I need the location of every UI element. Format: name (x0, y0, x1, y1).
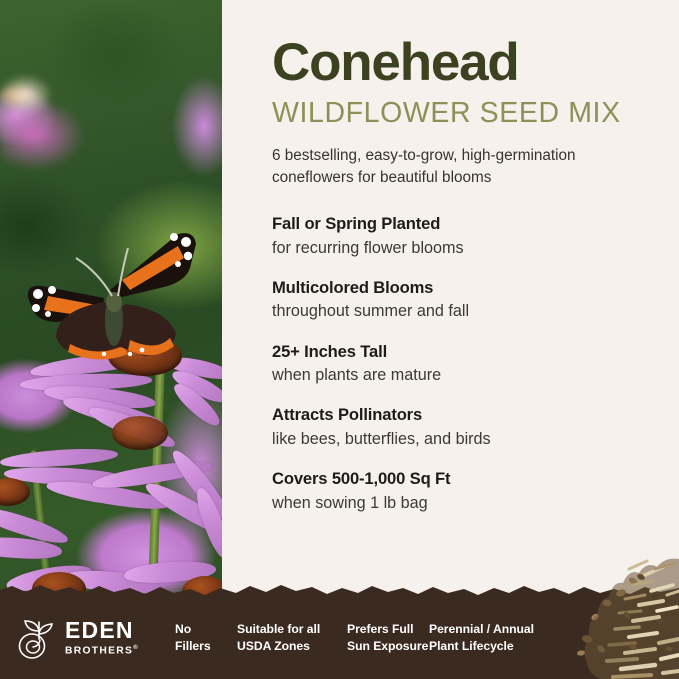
feature-list: Fall or Spring Planted for recurring flo… (272, 214, 659, 514)
feature-subtext: for recurring flower blooms (272, 238, 659, 259)
sprout-seed-icon (15, 616, 59, 660)
feature-subtext: when sowing 1 lb bag (272, 493, 659, 514)
footer-badge-usda-zones: Suitable for all USDA Zones (237, 621, 347, 655)
feature-subtext: when plants are mature (272, 365, 659, 386)
badge-line-2: Plant Lifecycle (429, 638, 549, 655)
feature-heading: Covers 500-1,000 Sq Ft (272, 469, 659, 490)
badge-line-1: Suitable for all (237, 621, 347, 638)
feature-heading: Attracts Pollinators (272, 405, 659, 426)
registered-trademark-icon: ® (133, 645, 139, 651)
brand-wordmark: EDEN BROTHERS® (65, 619, 139, 657)
feature-item: 25+ Inches Tall when plants are mature (272, 342, 659, 387)
badge-line-2: USDA Zones (237, 638, 347, 655)
feature-subtext: throughout summer and fall (272, 301, 659, 322)
badge-line-2: Sun Exposure (347, 638, 429, 655)
brand-name: EDEN (65, 619, 139, 642)
flower-cone-center (112, 416, 168, 450)
badge-line-1: No (175, 621, 237, 638)
feature-subtext: like bees, butterflies, and birds (272, 429, 659, 450)
flower-petal (0, 446, 118, 470)
flower-cone-center (0, 478, 30, 506)
feature-item: Covers 500-1,000 Sq Ft when sowing 1 lb … (272, 469, 659, 514)
feature-heading: Multicolored Blooms (272, 278, 659, 299)
feature-heading: 25+ Inches Tall (272, 342, 659, 363)
product-photo (0, 0, 222, 620)
feature-item: Multicolored Blooms throughout summer an… (272, 278, 659, 323)
badge-line-1: Prefers Full (347, 621, 429, 638)
brand-logo[interactable]: EDEN BROTHERS® (15, 616, 143, 660)
feature-item: Attracts Pollinators like bees, butterfl… (272, 405, 659, 450)
footer-content: EDEN BROTHERS® No Fillers Suitable for a… (0, 597, 679, 679)
content-panel: Conehead WILDFLOWER SEED MIX 6 bestselli… (222, 0, 679, 679)
footer-badge-sun-exposure: Prefers Full Sun Exposure (347, 621, 429, 655)
footer-badge-lifecycle: Perennial / Annual Plant Lifecycle (429, 621, 549, 655)
badge-line-1: Perennial / Annual (429, 621, 549, 638)
product-feature-card: Conehead WILDFLOWER SEED MIX 6 bestselli… (0, 0, 679, 679)
page-title: Conehead (272, 36, 659, 90)
brand-subname: BROTHERS® (65, 645, 139, 657)
badge-line-2: Fillers (175, 638, 237, 655)
footer-badge-fillers: No Fillers (175, 621, 237, 655)
feature-heading: Fall or Spring Planted (272, 214, 659, 235)
feature-item: Fall or Spring Planted for recurring flo… (272, 214, 659, 259)
product-subtitle: WILDFLOWER SEED MIX (272, 99, 659, 129)
red-admiral-butterfly (18, 228, 206, 362)
product-description: 6 bestselling, easy-to-grow, high-germin… (272, 145, 617, 190)
footer-bar: EDEN BROTHERS® No Fillers Suitable for a… (0, 597, 679, 679)
brand-subname-text: BROTHERS (65, 646, 133, 657)
